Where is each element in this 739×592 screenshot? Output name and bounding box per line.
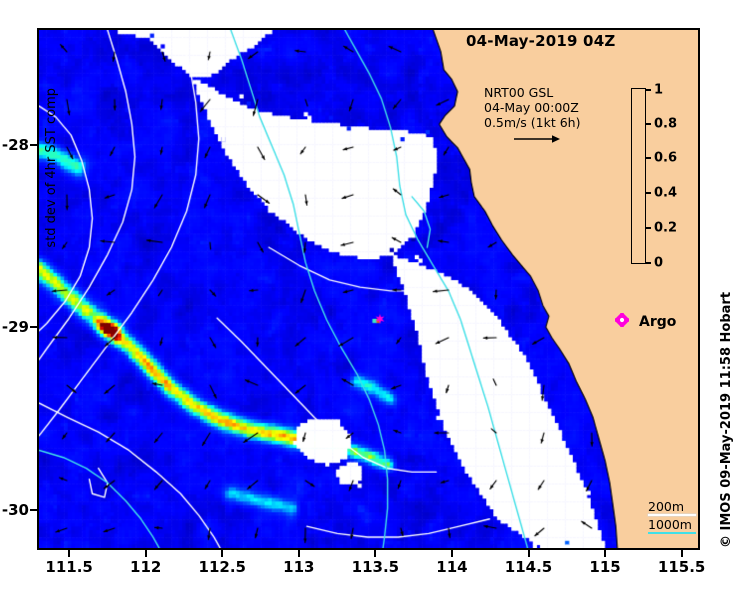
map-figure: 04-May-2019 04Z NRT00 GSL 04-May 00:00Z … [0,0,739,592]
bathymetry-1000m-swatch [648,532,696,534]
y-axis-labels: -28-29-30 [0,0,33,592]
x-tick-label-2: 112.5 [199,558,246,576]
x-tick-label-0: 111.5 [45,558,92,576]
bathymetry-200m-label: 200m [648,500,708,513]
bathymetry-200m-swatch [648,514,696,516]
model-annotation-block: NRT00 GSL 04-May 00:00Z 0.5m/s (1kt 6h) [484,85,634,147]
colorbar-tick-5 [646,89,651,91]
x-tick-mark-8 [681,550,683,557]
y-tick-mark-2 [30,509,37,511]
colorbar: 0 0.2 0.4 0.6 0.8 1 [631,88,701,268]
colorbar-label-1: 0.2 [654,221,677,236]
annotation-vector-scale: 0.5m/s (1kt 6h) [484,115,634,130]
argo-legend-label: Argo [639,314,676,330]
colorbar-tick-4 [646,123,651,125]
x-tick-label-6: 114.5 [505,558,552,576]
colorbar-tick-2 [646,192,651,194]
colorbar-tick-0 [646,262,651,264]
y-tick-label-2: -30 [2,501,29,519]
colorbar-label-5: 1 [654,83,663,98]
argo-legend: Argo [615,312,676,331]
right-arrow-icon [514,132,634,147]
x-tick-label-4: 113.5 [352,558,399,576]
bathymetry-1000m-label: 1000m [648,518,708,531]
y-tick-mark-1 [30,326,37,328]
colorbar-title: std dev of 4hr SST comp [44,88,59,248]
colorbar-label-0: 0 [654,256,663,271]
annotation-timestamp: 04-May 00:00Z [484,100,634,115]
annotation-source: NRT00 GSL [484,85,634,100]
x-tick-mark-1 [145,550,147,557]
colorbar-tick-3 [646,157,651,159]
bathymetry-1000m-entry: 1000m [648,518,708,534]
x-tick-label-5: 114 [436,558,467,576]
x-tick-label-3: 113 [283,558,314,576]
copyright-notice: © IMOS 09-May-2019 11:58 Hobart [719,292,734,548]
x-tick-mark-2 [221,550,223,557]
x-tick-mark-6 [528,550,530,557]
bathymetry-200m-entry: 200m [648,500,708,516]
x-tick-mark-3 [298,550,300,557]
x-tick-label-1: 112 [130,558,161,576]
bathymetry-legend: 200m 1000m [648,500,708,536]
x-tick-label-8: 115.5 [658,558,705,576]
colorbar-label-3: 0.6 [654,151,677,166]
colorbar-gradient [631,88,646,264]
y-tick-mark-0 [30,144,37,146]
colorbar-tick-1 [646,227,651,229]
x-tick-mark-5 [451,550,453,557]
x-tick-mark-0 [68,550,70,557]
colorbar-label-4: 0.8 [654,117,677,132]
x-tick-mark-7 [604,550,606,557]
x-tick-label-7: 115 [589,558,620,576]
x-tick-mark-4 [374,550,376,557]
argo-marker-icon [615,312,629,331]
page-title: 04-May-2019 04Z [466,32,615,50]
y-tick-label-1: -29 [2,318,29,336]
colorbar-label-2: 0.4 [654,186,677,201]
y-tick-label-0: -28 [2,136,29,154]
